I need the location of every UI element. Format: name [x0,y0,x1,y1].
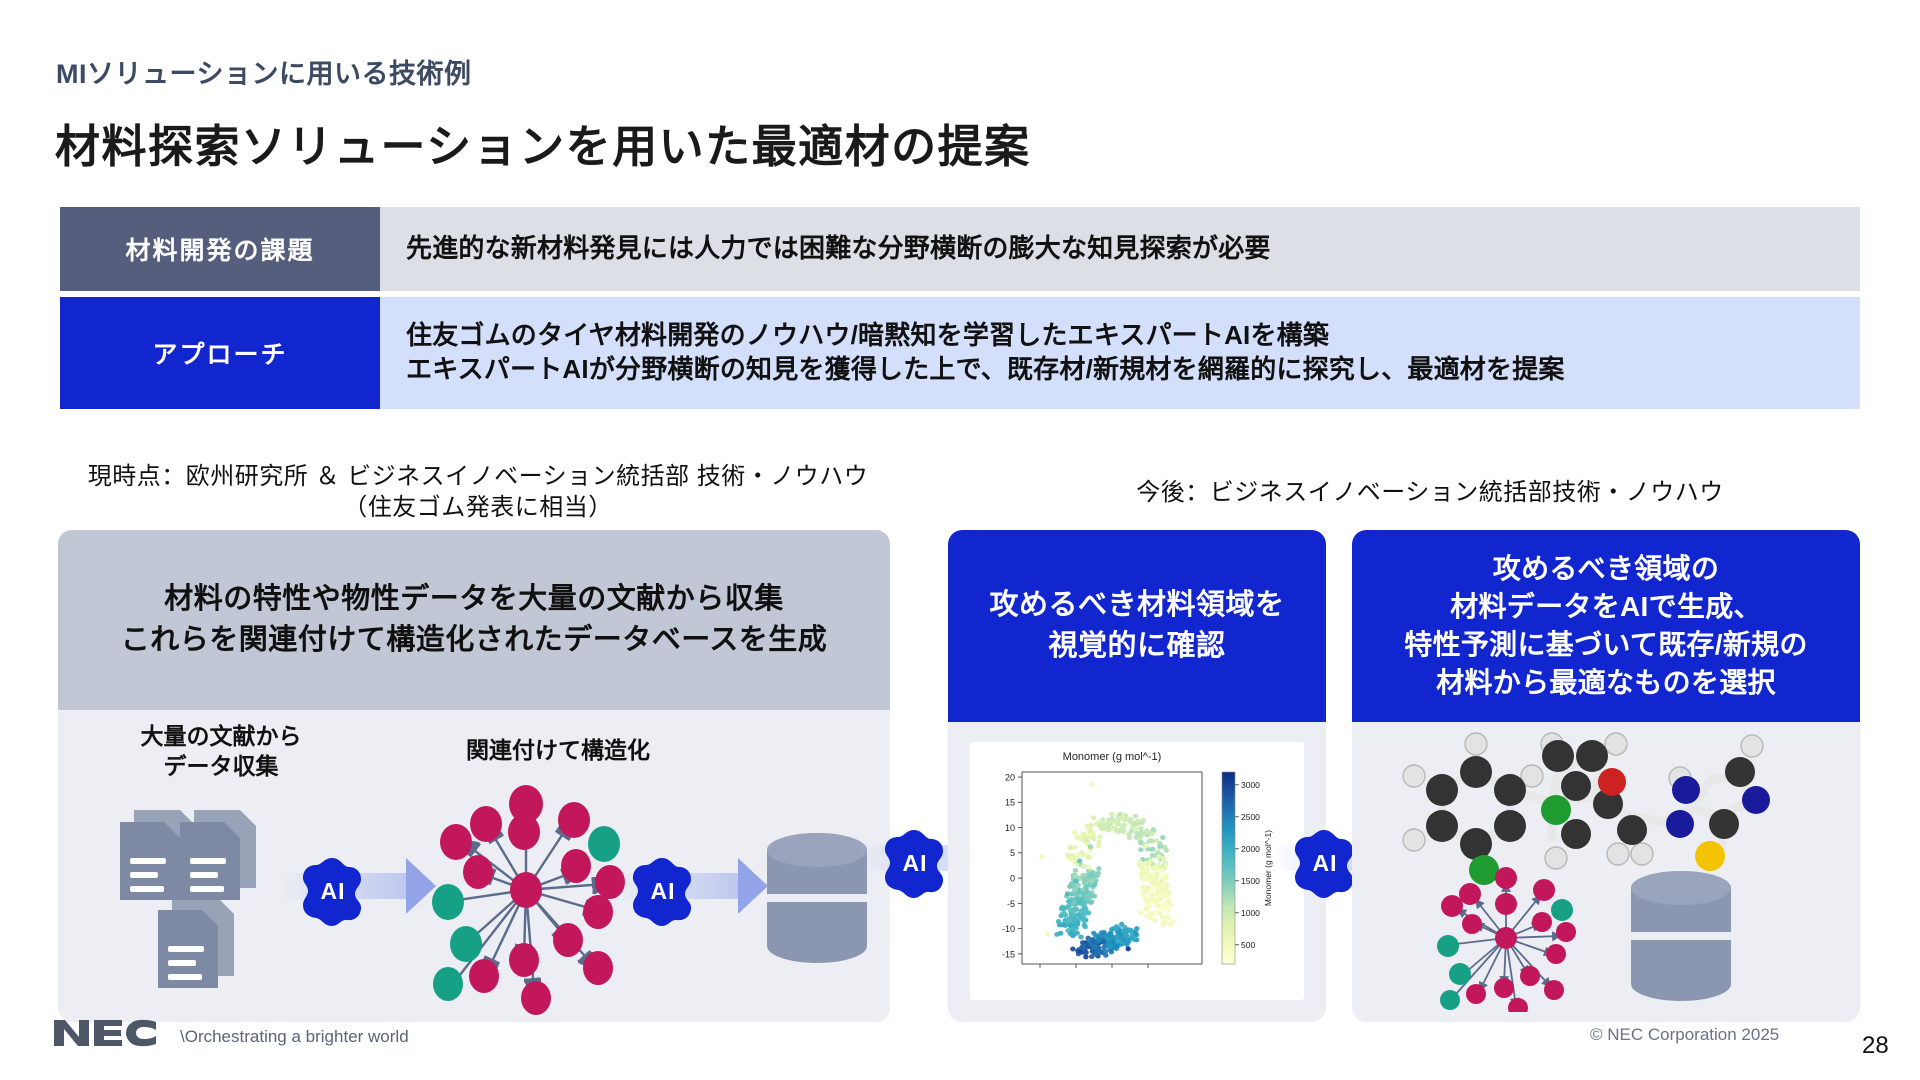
row-label-issue: 材料開発の課題 [60,207,380,291]
nec-tagline: \Orchestrating a brighter world [180,1027,409,1047]
label-structuring: 関連付けて構造化 [428,736,688,766]
eyebrow-text: MIソリューションに用いる技術例 [56,52,471,91]
panel-data-collection: 材料の特性や物性データを大量の文献から収集 これらを関連付けて構造化されたデータ… [58,530,890,1022]
panel-right-head-line3: 特性予測に基づいて既存/新規の [1404,626,1807,664]
panel-left-head-line2: これらを関連付けて構造化されたデータベースを生成 [121,620,828,661]
ai-badge-3-label: AI [884,850,946,877]
label-docs: 大量の文献から データ収集 [96,722,346,782]
knowledge-graph-icon [408,768,648,1022]
panel-right-head-line2: 材料データをAIで生成、 [1404,588,1807,626]
svg-text:20: 20 [1005,772,1015,782]
row-body-issue: 先進的な新材料発見には人力では困難な分野横断の膨大な知見探索が必要 [380,207,1860,291]
svg-text:10: 10 [1005,823,1015,833]
panel-right-body [1352,722,1860,1022]
svg-text:2000: 2000 [1241,844,1260,854]
panel-left-head-line1: 材料の特性や物性データを大量の文献から収集 [121,579,828,620]
scatter-chart: Monomer (g mol^-1)20151050-5-10-15500100… [970,742,1304,1000]
panel-left-header: 材料の特性や物性データを大量の文献から収集 これらを関連付けて構造化されたデータ… [58,530,890,710]
slide: MIソリューションに用いる技術例 材料探索ソリューションを用いた最適材の提案 材… [0,0,1920,1080]
svg-text:0: 0 [1010,874,1015,884]
svg-text:2500: 2500 [1241,812,1260,822]
panel-mid-head-line2: 視覚的に確認 [989,626,1284,667]
panel-right-head-line1: 攻めるべき領域の [1404,550,1807,588]
svg-text:5: 5 [1010,848,1015,858]
caption-left-line2: （住友ゴム発表に相当） [18,493,938,524]
svg-text:500: 500 [1241,940,1255,950]
page-title: 材料探索ソリューションを用いた最適材の提案 [55,110,1031,175]
panel-right-head-line4: 材料から最適なものを選択 [1404,664,1807,702]
svg-text:3000: 3000 [1241,780,1260,790]
panel-right-header: 攻めるべき領域の 材料データをAIで生成、 特性予測に基づいて既存/新規の 材料… [1352,530,1860,722]
page-number: 28 [1862,1032,1889,1060]
svg-text:Monomer (g mol^-1): Monomer (g mol^-1) [1063,751,1162,763]
svg-text:1500: 1500 [1241,876,1260,886]
row-body-approach: 住友ゴムのタイヤ材料開発のノウハウ/暗黙知を学習したエキスパートAIを構築 エキ… [380,297,1860,409]
table-row: 材料開発の課題 先進的な新材料発見には人力では困難な分野横断の膨大な知見探索が必… [60,207,1860,291]
row-label-approach: アプローチ [60,297,380,409]
summary-table: 材料開発の課題 先進的な新材料発見には人力では困難な分野横断の膨大な知見探索が必… [60,207,1860,415]
svg-text:15: 15 [1005,798,1015,808]
copyright-text: © NEC Corporation 2025 [1590,1025,1779,1045]
ai-badge-2-label: AI [632,878,694,905]
nec-logo [52,1018,160,1053]
caption-right: 今後：ビジネスイノベーション統括部技術・ノウハウ [1020,478,1840,509]
row-body-line: エキスパートAIが分野横断の知見を獲得した上で、既存材/新規材を網羅的に探究し、… [406,353,1860,387]
svg-text:-10: -10 [1002,924,1015,934]
panel-left-body: 大量の文献から データ収集 関連付けて構造化 [58,710,890,1022]
svg-text:-5: -5 [1007,899,1015,909]
database-icon [1622,868,1740,1013]
ai-badge-4-label: AI [1294,850,1356,877]
panel-visual-confirmation: 攻めるべき材料領域を 視覚的に確認 Monomer (g mol^-1)2015… [948,530,1326,1022]
caption-right-line1: 今後：ビジネスイノベーション統括部技術・ノウハウ [1020,478,1840,509]
panel-mid-header: 攻めるべき材料領域を 視覚的に確認 [948,530,1326,722]
label-docs-line2: データ収集 [96,752,346,782]
row-body-line: 先進的な新材料発見には人力では困難な分野横断の膨大な知見探索が必要 [406,232,1860,266]
row-body-line: 住友ゴムのタイヤ材料開発のノウハウ/暗黙知を学習したエキスパートAIを構築 [406,319,1860,353]
ai-badge-1-label: AI [302,878,364,905]
caption-left: 現時点：欧州研究所 ＆ ビジネスイノベーション統括部 技術・ノウハウ （住友ゴム… [18,462,938,523]
knowledge-graph-small-icon [1430,862,1590,1017]
caption-left-line1: 現時点：欧州研究所 ＆ ビジネスイノベーション統括部 技術・ノウハウ [18,462,938,493]
panel-mid-head-line1: 攻めるべき材料領域を [989,585,1284,626]
label-docs-line1: 大量の文献から [96,722,346,752]
table-row: アプローチ 住友ゴムのタイヤ材料開発のノウハウ/暗黙知を学習したエキスパートAI… [60,297,1860,409]
svg-text:1000: 1000 [1241,908,1260,918]
svg-text:-15: -15 [1002,949,1015,959]
panel-material-generation: 攻めるべき領域の 材料データをAIで生成、 特性予測に基づいて既存/新規の 材料… [1352,530,1860,1022]
database-icon [758,830,876,975]
panel-mid-body: Monomer (g mol^-1)20151050-5-10-15500100… [948,722,1326,1022]
